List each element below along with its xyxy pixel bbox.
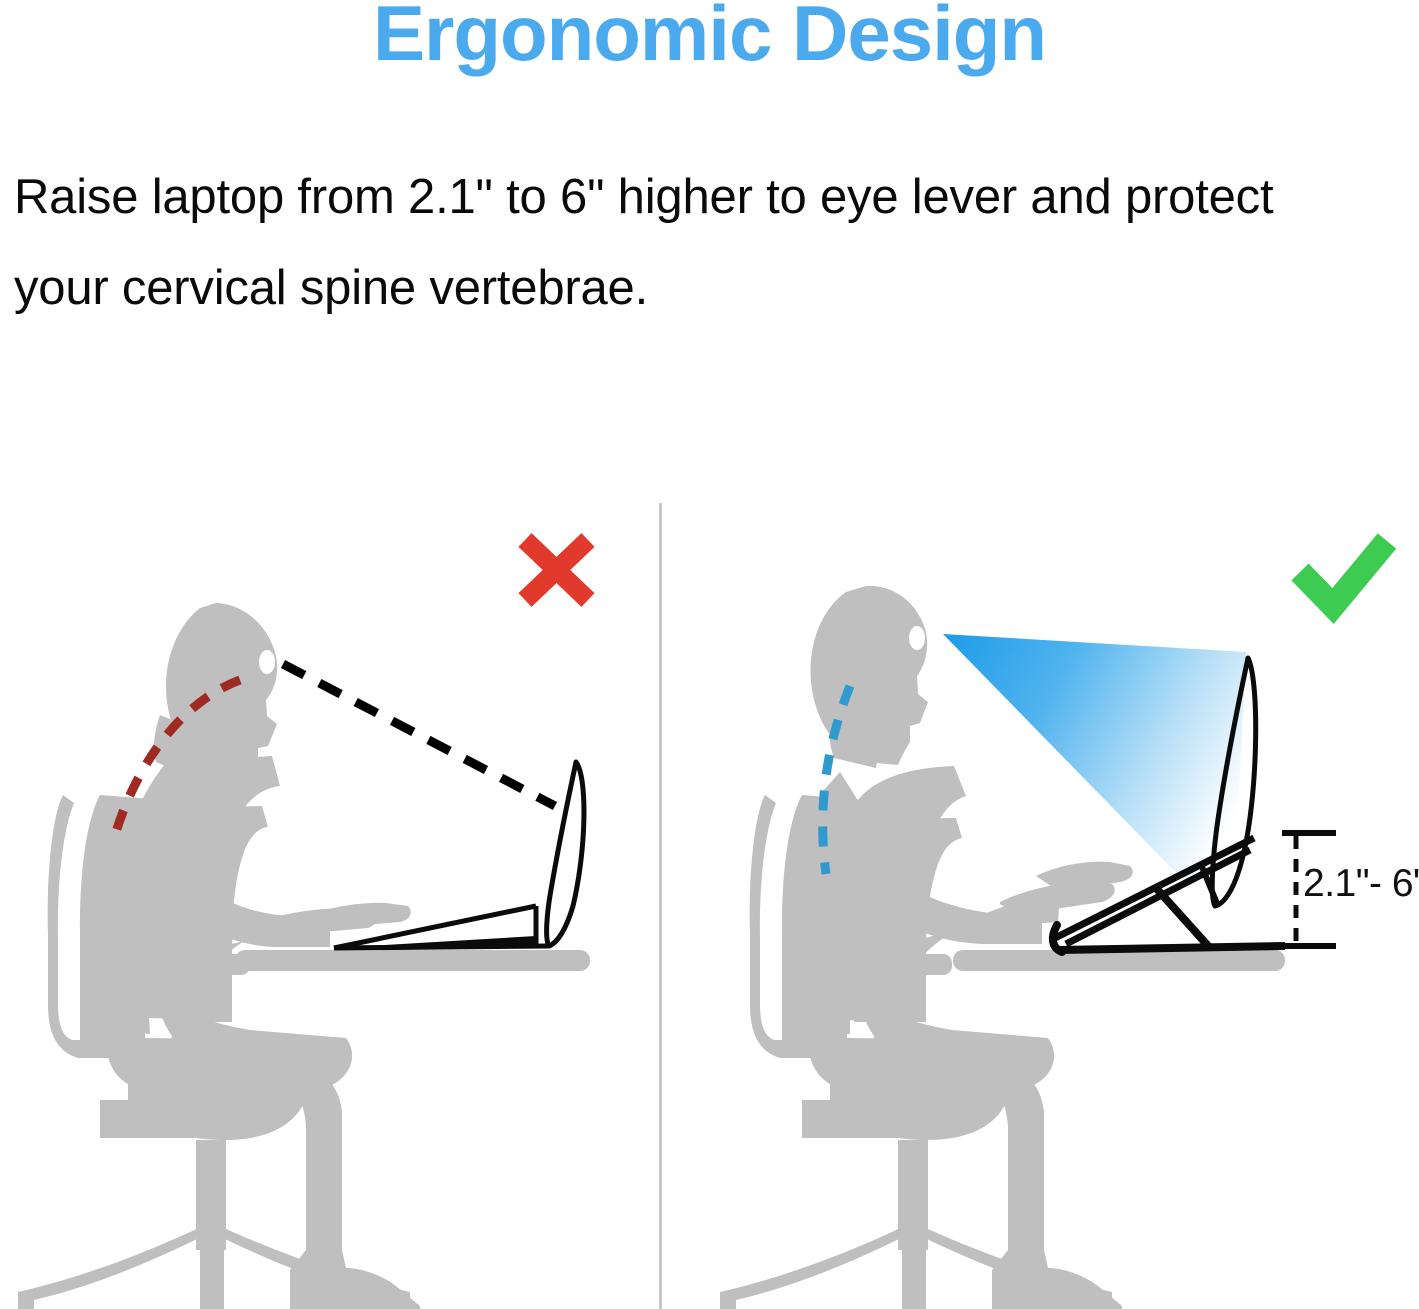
check-mark-icon <box>1300 541 1387 606</box>
desk-right <box>953 950 1285 971</box>
cross-mark-icon <box>525 540 588 600</box>
panel-divider <box>659 503 662 1309</box>
right-panel-figure <box>720 541 1387 1309</box>
left-panel-figure <box>18 540 590 1309</box>
desk-left <box>235 950 590 971</box>
height-range-label: 2.1"- 6" <box>1303 864 1419 903</box>
ergonomic-design-infographic: Ergonomic Design Raise laptop from 2.1" … <box>0 0 1419 1309</box>
illustration-area <box>0 0 1419 1309</box>
sight-line-incorrect <box>283 664 555 806</box>
